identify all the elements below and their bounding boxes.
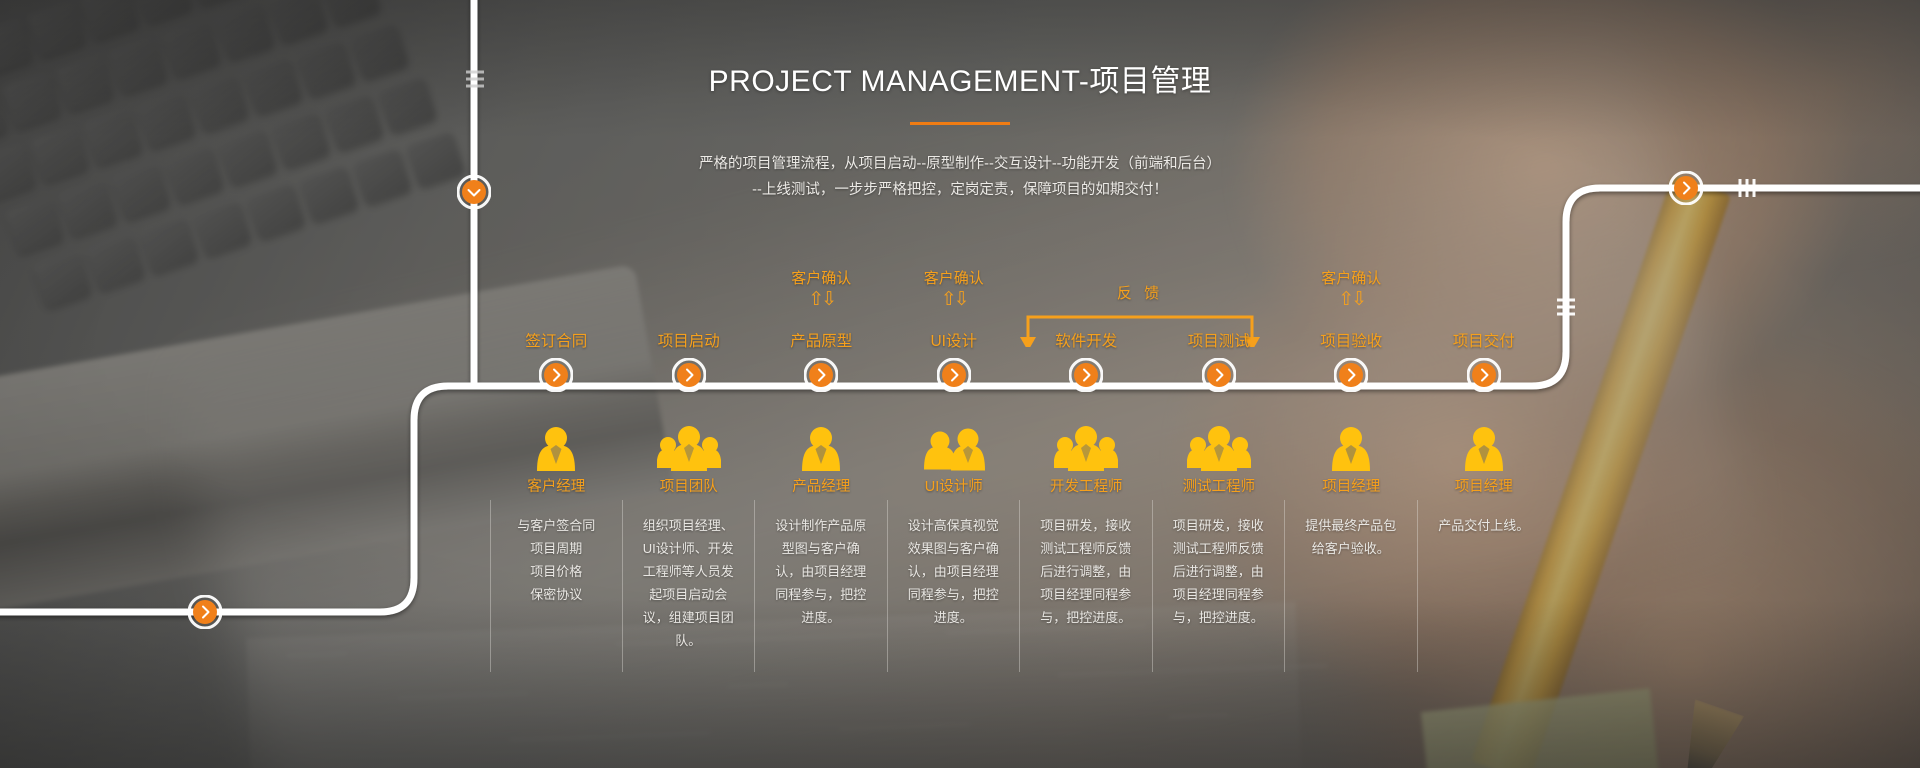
process-steps: 签订合同 客户经理项目启动 项目团队客户确认⇧⇩产品原型 产品经理客户确认⇧⇩U… — [490, 270, 1550, 497]
chevron-right-icon[interactable] — [1153, 358, 1286, 392]
process-step[interactable]: 项目测试 测试工程师 — [1153, 270, 1286, 497]
loop-node-right[interactable] — [1669, 171, 1703, 210]
chevron-right-icon[interactable] — [1020, 358, 1153, 392]
step-role: 项目经理 — [1418, 477, 1551, 497]
up-down-arrows-icon: ⇧⇩ — [755, 290, 888, 310]
chevron-right-icon[interactable] — [490, 358, 623, 392]
step-role: 测试工程师 — [1153, 477, 1286, 497]
step-name: 项目启动 — [623, 332, 756, 352]
single-person-icon — [1418, 410, 1551, 472]
step-name: 项目测试 — [1153, 332, 1286, 352]
chevron-right-icon[interactable] — [1418, 358, 1551, 392]
step-role: 产品经理 — [755, 477, 888, 497]
process-descriptions: 与客户签合同 项目周期 项目价格 保密协议组织项目经理、UI设计师、开发工程师等… — [490, 500, 1550, 672]
step-description: 设计制作产品原型图与客户确认，由项目经理同程参与，把控进度。 — [755, 500, 888, 672]
step-name: 签订合同 — [490, 332, 623, 352]
chevron-right-icon[interactable] — [623, 358, 756, 392]
customer-confirm-label: 客户确认 — [1285, 270, 1418, 288]
customer-confirm-block: 客户确认⇧⇩ — [888, 270, 1021, 332]
single-person-icon — [1285, 410, 1418, 472]
entry-node-chevron-down[interactable] — [457, 175, 491, 214]
step-description: 产品交付上线。 — [1418, 500, 1551, 672]
step-node-marker[interactable] — [1020, 358, 1153, 404]
step-role: UI设计师 — [888, 477, 1021, 497]
chevron-right-icon[interactable] — [888, 358, 1021, 392]
step-node-marker[interactable] — [623, 358, 756, 404]
step-description: 项目研发，接收测试工程师反馈后进行调整，由项目经理同程参与，把控进度。 — [1153, 500, 1286, 672]
customer-confirm-label: 客户确认 — [755, 270, 888, 288]
two-people-icon — [888, 410, 1021, 472]
customer-confirm-label: 客户确认 — [888, 270, 1021, 288]
single-person-icon — [490, 410, 623, 472]
single-person-icon — [755, 410, 888, 472]
process-step[interactable]: 客户确认⇧⇩项目验收 项目经理 — [1285, 270, 1418, 497]
step-name: 项目验收 — [1285, 332, 1418, 352]
step-description: 设计高保真视觉效果图与客户确认，由项目经理同程参与，把控进度。 — [888, 500, 1021, 672]
step-role: 项目团队 — [623, 477, 756, 497]
group-people-icon — [1153, 410, 1286, 472]
customer-confirm-block — [623, 270, 756, 332]
page-subtitle: 严格的项目管理流程，从项目启动--原型制作--交互设计--功能开发（前端和后台）… — [0, 151, 1920, 203]
customer-confirm-block — [1418, 270, 1551, 332]
loop-node-left[interactable] — [188, 595, 222, 634]
page-title: PROJECT MANAGEMENT-项目管理 — [0, 56, 1920, 100]
step-node-marker[interactable] — [1418, 358, 1551, 404]
process-step[interactable]: 项目启动 项目团队 — [623, 270, 756, 497]
step-node-marker[interactable] — [1285, 358, 1418, 404]
customer-confirm-block: 客户确认⇧⇩ — [1285, 270, 1418, 332]
process-step[interactable]: 软件开发 开发工程师 — [1020, 270, 1153, 497]
step-node-marker[interactable] — [755, 358, 888, 404]
step-node-marker[interactable] — [490, 358, 623, 404]
up-down-arrows-icon: ⇧⇩ — [888, 290, 1021, 310]
page-header: PROJECT MANAGEMENT-项目管理 严格的项目管理流程，从项目启动-… — [0, 56, 1920, 203]
customer-confirm-block — [1153, 270, 1286, 332]
step-node-marker[interactable] — [888, 358, 1021, 404]
chevron-right-icon[interactable] — [1285, 358, 1418, 392]
customer-confirm-block — [1020, 270, 1153, 332]
group-people-icon — [623, 410, 756, 472]
step-role: 客户经理 — [490, 477, 623, 497]
step-role: 项目经理 — [1285, 477, 1418, 497]
step-name: 产品原型 — [755, 332, 888, 352]
step-description: 项目研发，接收测试工程师反馈后进行调整，由项目经理同程参与，把控进度。 — [1020, 500, 1153, 672]
step-description: 组织项目经理、UI设计师、开发工程师等人员发起项目启动会议，组建项目团队。 — [623, 500, 756, 672]
process-step[interactable]: 客户确认⇧⇩UI设计 UI设计师 — [888, 270, 1021, 497]
title-underline — [910, 122, 1010, 125]
process-step[interactable]: 项目交付 项目经理 — [1418, 270, 1551, 497]
step-name: 项目交付 — [1418, 332, 1551, 352]
step-role: 开发工程师 — [1020, 477, 1153, 497]
process-step[interactable]: 签订合同 客户经理 — [490, 270, 623, 497]
customer-confirm-block: 客户确认⇧⇩ — [755, 270, 888, 332]
step-name: UI设计 — [888, 332, 1021, 352]
process-step[interactable]: 客户确认⇧⇩产品原型 产品经理 — [755, 270, 888, 497]
group-people-icon — [1020, 410, 1153, 472]
step-node-marker[interactable] — [1153, 358, 1286, 404]
subtitle-line-1: 严格的项目管理流程，从项目启动--原型制作--交互设计--功能开发（前端和后台） — [0, 151, 1920, 177]
up-down-arrows-icon: ⇧⇩ — [1285, 290, 1418, 310]
chevron-right-icon[interactable] — [755, 358, 888, 392]
step-description: 与客户签合同 项目周期 项目价格 保密协议 — [490, 500, 623, 672]
step-description: 提供最终产品包给客户验收。 — [1285, 500, 1418, 672]
subtitle-line-2: --上线测试，一步步严格把控，定岗定责，保障项目的如期交付！ — [0, 177, 1920, 203]
step-name: 软件开发 — [1020, 332, 1153, 352]
customer-confirm-block — [490, 270, 623, 332]
